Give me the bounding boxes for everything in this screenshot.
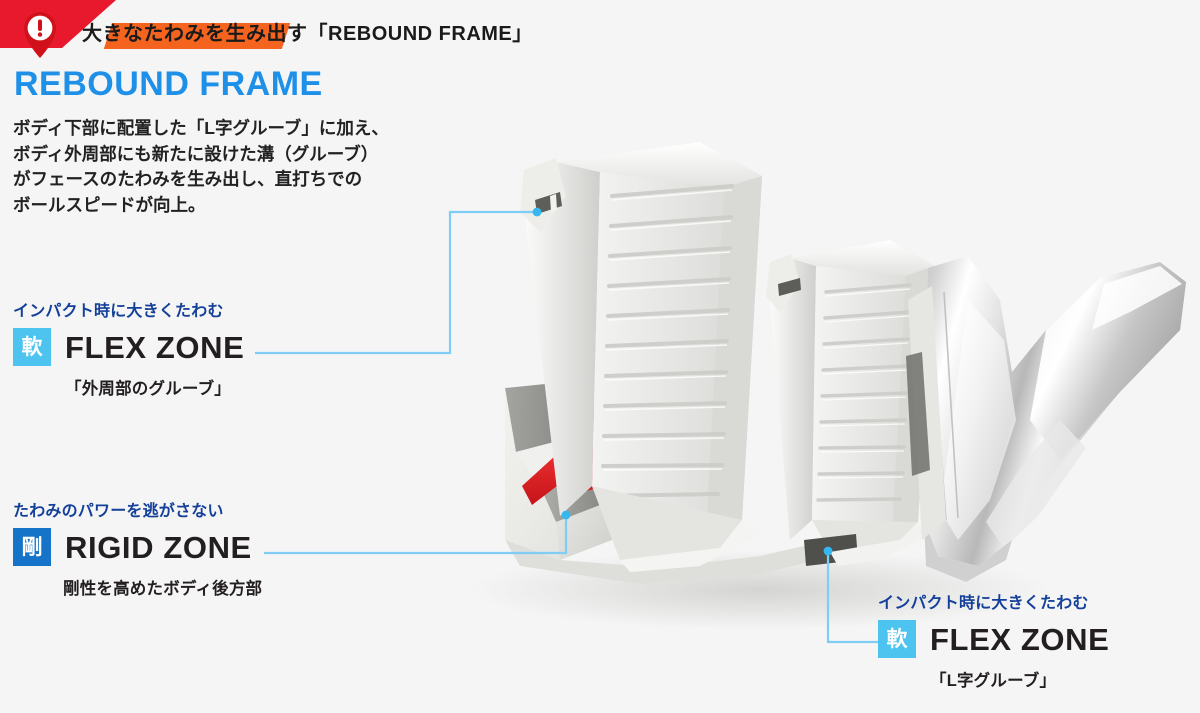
callout-eyebrow: たわみのパワーを逃がさない <box>13 497 262 521</box>
callout-eyebrow: インパクト時に大きくたわむ <box>13 297 244 321</box>
callout-name: FLEX ZONE <box>65 332 244 363</box>
exclamation-pin-icon <box>18 7 62 59</box>
lede-line-1: ボディ下部に配置した「L字グルーブ」に加え、 <box>13 116 453 142</box>
kicker-block: 大きなたわみを生み出す「REBOUND FRAME」 <box>82 18 533 50</box>
callout-title-row: 剛 RIGID ZONE <box>13 528 262 566</box>
lede-line-2: ボディ外周部にも新たに設けた溝（グルーブ） <box>13 142 453 168</box>
badge-soft-icon: 軟 <box>878 620 916 658</box>
kicker-text: 大きなたわみを生み出す「REBOUND FRAME」 <box>82 18 533 50</box>
callout-name: RIGID ZONE <box>65 532 252 563</box>
callout-title-row: 軟 FLEX ZONE <box>878 620 1109 658</box>
infographic-canvas: 大きなたわみを生み出す「REBOUND FRAME」 REBOUND FRAME… <box>0 0 1200 713</box>
lede-paragraph: ボディ下部に配置した「L字グルーブ」に加え、 ボディ外周部にも新たに設けた溝（グ… <box>13 116 453 218</box>
callout-subtext: 剛性を高めたボディ後方部 <box>63 575 262 599</box>
badge-soft-icon: 軟 <box>13 328 51 366</box>
callout-title-row: 軟 FLEX ZONE <box>13 328 244 366</box>
callout-subtext: 「外周部のグルーブ」 <box>65 375 244 399</box>
callout-flex-zone-outer: インパクト時に大きくたわむ 軟 FLEX ZONE 「外周部のグルーブ」 <box>13 297 244 399</box>
callout-name: FLEX ZONE <box>930 624 1109 655</box>
lede-line-3: がフェースのたわみを生み出し、直打ちでの <box>13 167 453 193</box>
lede-line-4: ボールスピードが向上。 <box>13 193 453 219</box>
callout-subtext: 「L字グルーブ」 <box>930 667 1109 691</box>
callout-rigid-zone: たわみのパワーを逃がさない 剛 RIGID ZONE 剛性を高めたボディ後方部 <box>13 497 262 599</box>
callout-flex-zone-lgroove: インパクト時に大きくたわむ 軟 FLEX ZONE 「L字グルーブ」 <box>878 589 1109 691</box>
badge-rigid-icon: 剛 <box>13 528 51 566</box>
render-part-chrome-hosel <box>906 256 1186 582</box>
callout-eyebrow: インパクト時に大きくたわむ <box>878 589 1109 613</box>
page-title: REBOUND FRAME <box>14 65 323 104</box>
